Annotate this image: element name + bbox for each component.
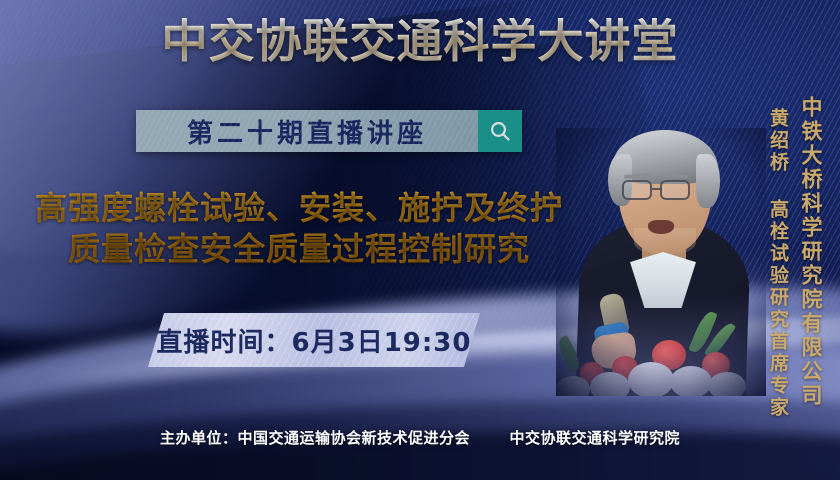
broadcast-time-plaque: 直播时间：6月3日19:30 xyxy=(148,313,480,367)
episode-label: 第二十期直播讲座 xyxy=(136,110,478,152)
speaker-name-role: 黄绍桥 高栓试验研究首席专家 xyxy=(765,108,792,419)
live-lecture-poster: 中交协联交通科学大讲堂 第二十期直播讲座 高强度螺栓试验、安装、施拧及终拧 质量… xyxy=(0,0,840,480)
search-icon[interactable] xyxy=(478,110,522,152)
organizer-primary: 主办单位：中国交通运输协会新技术促进分会 xyxy=(160,429,470,447)
lecture-title: 高强度螺栓试验、安装、施拧及终拧 质量检查安全质量过程控制研究 xyxy=(0,188,598,270)
organizer-footer: 主办单位：中国交通运输协会新技术促进分会 中交协联交通科学研究院 xyxy=(0,427,840,448)
lecture-title-line-1: 高强度螺栓试验、安装、施拧及终拧 xyxy=(35,189,563,227)
lecture-title-line-2: 质量检查安全质量过程控制研究 xyxy=(0,229,598,270)
broadcast-time-label: 直播时间：6月3日19:30 xyxy=(157,322,472,359)
page-title: 中交协联交通科学大讲堂 xyxy=(0,18,840,64)
organizer-secondary: 中交协联交通科学研究院 xyxy=(509,429,680,447)
speaker-organization: 中铁大桥科学研究院有限公司 xyxy=(796,96,826,408)
episode-banner: 第二十期直播讲座 xyxy=(136,110,522,152)
